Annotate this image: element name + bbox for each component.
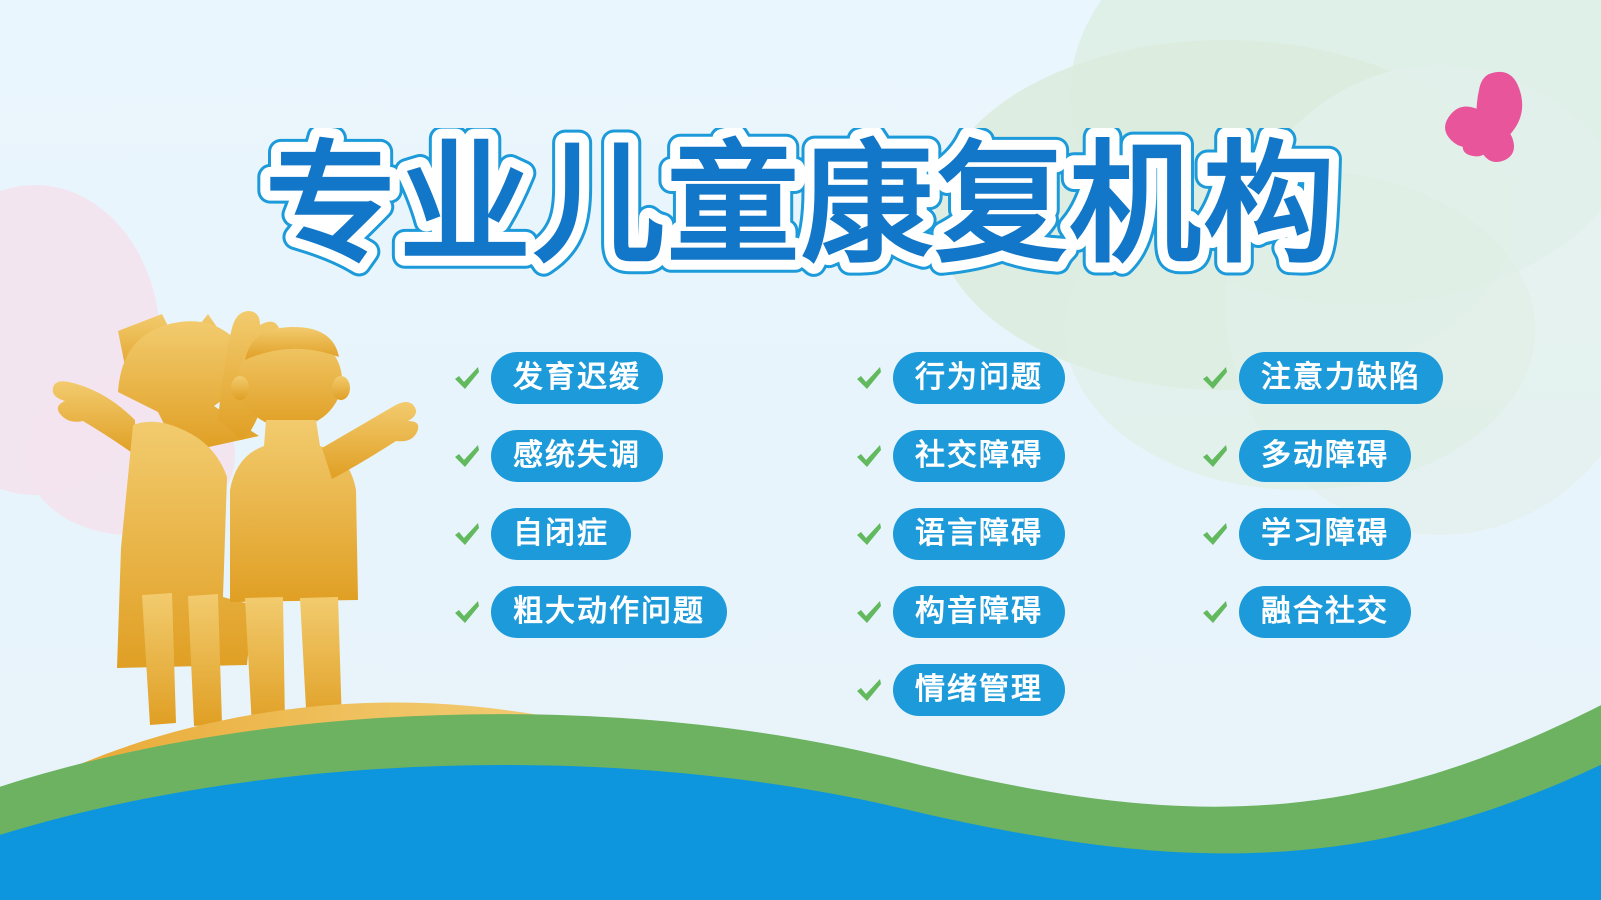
check-icon [1200, 597, 1239, 627]
service-tag-pill[interactable]: 自闭症 [491, 508, 631, 560]
tag-column-2: 行为问题社交障碍语言障碍构音障碍情绪管理 [854, 352, 1065, 742]
check-icon [854, 441, 893, 471]
service-tag-pill[interactable]: 感统失调 [491, 430, 663, 482]
service-tag-pill[interactable]: 多动障碍 [1239, 430, 1411, 482]
service-tag-pill[interactable]: 构音障碍 [893, 586, 1065, 638]
service-tag-pill[interactable]: 学习障碍 [1239, 508, 1411, 560]
service-tag-pill[interactable]: 发育迟缓 [491, 352, 663, 404]
check-icon [854, 519, 893, 549]
service-tag-pill[interactable]: 行为问题 [893, 352, 1065, 404]
check-icon [1200, 441, 1239, 471]
tag-row: 行为问题 [854, 352, 1065, 404]
tag-row: 学习障碍 [1200, 508, 1443, 560]
tag-row: 融合社交 [1200, 586, 1443, 638]
banner-root: 专业儿童康复机构 专业儿童康复机构 专业儿童康复机构 发育迟缓感统失调自闭症粗大… [0, 0, 1601, 900]
tag-column-1: 发育迟缓感统失调自闭症粗大动作问题 [452, 352, 727, 664]
service-tag-area: 发育迟缓感统失调自闭症粗大动作问题 行为问题社交障碍语言障碍构音障碍情绪管理 注… [452, 352, 1552, 772]
tag-row: 多动障碍 [1200, 430, 1443, 482]
service-tag-pill[interactable]: 情绪管理 [893, 664, 1065, 716]
service-tag-pill[interactable]: 融合社交 [1239, 586, 1411, 638]
service-tag-pill[interactable]: 粗大动作问题 [491, 586, 727, 638]
tag-row: 粗大动作问题 [452, 586, 727, 638]
check-icon [854, 675, 893, 705]
check-icon [854, 363, 893, 393]
tag-row: 发育迟缓 [452, 352, 727, 404]
tag-row: 自闭症 [452, 508, 727, 560]
service-tag-pill[interactable]: 注意力缺陷 [1239, 352, 1443, 404]
tag-row: 社交障碍 [854, 430, 1065, 482]
tag-column-3: 注意力缺陷多动障碍学习障碍融合社交 [1200, 352, 1443, 664]
tag-row: 注意力缺陷 [1200, 352, 1443, 404]
tag-row: 构音障碍 [854, 586, 1065, 638]
check-icon [452, 441, 491, 471]
check-icon [1200, 519, 1239, 549]
check-icon [854, 597, 893, 627]
check-icon [1200, 363, 1239, 393]
tag-row: 语言障碍 [854, 508, 1065, 560]
check-icon [452, 363, 491, 393]
service-tag-pill[interactable]: 社交障碍 [893, 430, 1065, 482]
check-icon [452, 519, 491, 549]
check-icon [452, 597, 491, 627]
tag-row: 情绪管理 [854, 664, 1065, 716]
tag-row: 感统失调 [452, 430, 727, 482]
service-tag-pill[interactable]: 语言障碍 [893, 508, 1065, 560]
